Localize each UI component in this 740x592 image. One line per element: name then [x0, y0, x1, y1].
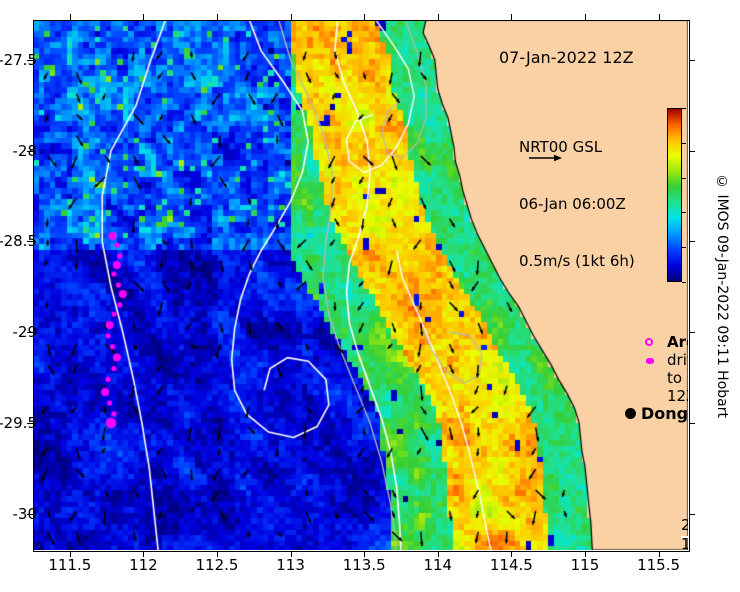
x-tick-label: 115.5 [637, 556, 680, 574]
colorbar-tick-mark [682, 212, 686, 213]
product-info-block: NRT00 GSL 06-Jan 06:00Z 0.5m/s (1kt 6h) [519, 100, 635, 309]
product-time-label: 06-Jan 06:00Z [519, 195, 635, 214]
colorbar-tick-mark [682, 143, 686, 144]
date-stamp-label: 07-Jan-2022 12Z [499, 48, 634, 67]
dongara-place-label: Dongara [641, 404, 688, 423]
y-tick-label: -28 [13, 142, 38, 160]
x-tick-mark-top [217, 14, 218, 20]
y-tick-mark-right [689, 332, 695, 333]
y-tick-mark-right [689, 423, 695, 424]
colorbar-tick-mark [682, 282, 686, 283]
colorbar [667, 108, 682, 282]
colorbar-gradient [667, 108, 682, 282]
argo-marker-icon [645, 338, 653, 346]
depth-200m-label: 200m [681, 516, 688, 535]
y-tick-label: -30 [13, 505, 38, 523]
x-tick-label: 112 [129, 556, 158, 574]
x-tick-label: 115 [571, 556, 600, 574]
vector-scale-label: 0.5m/s (1kt 6h) [519, 252, 635, 271]
x-tick-label: 114.5 [490, 556, 533, 574]
depth-contour-legend: 200m 1000m [681, 516, 688, 550]
vector-reference-arrow-icon [528, 153, 562, 163]
x-tick-label: 112.5 [196, 556, 239, 574]
x-tick-mark-top [511, 14, 512, 20]
legend-period-label: to 08/01 12Z [667, 369, 688, 405]
x-tick-label: 111.5 [48, 556, 91, 574]
y-tick-mark-right [689, 514, 695, 515]
x-tick-label: 113 [276, 556, 305, 574]
dongara-location-dot [625, 408, 636, 419]
legend-drifters-label: drifters@6h [667, 351, 688, 369]
x-tick-mark-top [291, 14, 292, 20]
y-tick-mark-right [689, 60, 695, 61]
y-tick-label: -28.5 [0, 232, 37, 250]
x-tick-label: 114 [423, 556, 452, 574]
x-tick-mark-top [143, 14, 144, 20]
x-tick-label: 113.5 [343, 556, 386, 574]
x-tick-mark-top [364, 14, 365, 20]
drifter-marker-icon [646, 358, 654, 364]
y-tick-mark-right [689, 241, 695, 242]
colorbar-tick-mark [682, 108, 686, 109]
copyright-label: © IMOS 09-Jan-2022 09:11 Hobart [714, 174, 730, 418]
x-tick-mark-top [438, 14, 439, 20]
legend-argo-label: Argo [667, 333, 688, 351]
x-tick-mark-top [659, 14, 660, 20]
x-tick-mark-top [70, 14, 71, 20]
depth-200m-line-swatch [681, 536, 688, 538]
map-plot-area[interactable]: 07-Jan-2022 12Z NRT00 GSL 06-Jan 06:00Z … [33, 20, 688, 550]
y-tick-label: -29 [13, 323, 38, 341]
colorbar-tick-mark [682, 247, 686, 248]
y-tick-mark-right [689, 151, 695, 152]
y-tick-label: -29.5 [0, 414, 37, 432]
colorbar-tick-mark [682, 178, 686, 179]
x-tick-mark-top [585, 14, 586, 20]
track-legend: Argo drifters@6h to 08/01 12Z [645, 333, 688, 405]
sst-std-dev-map-figure: 07-Jan-2022 12Z NRT00 GSL 06-Jan 06:00Z … [0, 0, 740, 592]
y-tick-label: -27.5 [0, 51, 37, 69]
